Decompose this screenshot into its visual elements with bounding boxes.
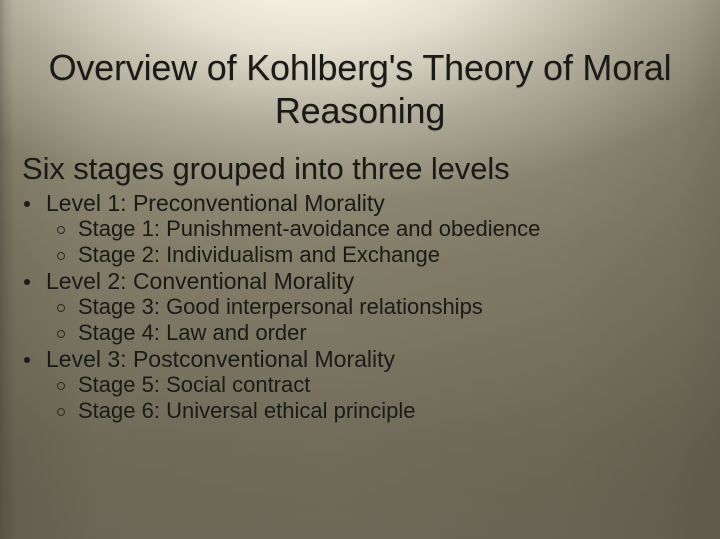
slide-subtitle: Six stages grouped into three levels bbox=[22, 150, 510, 187]
stage-row: Stage 1: Punishment-avoidance and obedie… bbox=[0, 216, 720, 242]
hollow-circle-bullet-icon bbox=[57, 330, 65, 338]
stage-list: Stage 5: Social contract Stage 6: Univer… bbox=[0, 372, 720, 424]
stage-row: Stage 5: Social contract bbox=[0, 372, 720, 398]
stage-label: Stage 5: Social contract bbox=[78, 372, 310, 397]
stage-row: Stage 3: Good interpersonal relationship… bbox=[0, 294, 720, 320]
level-label: Level 3: Postconventional Morality bbox=[46, 346, 395, 372]
stage-list: Stage 3: Good interpersonal relationship… bbox=[0, 294, 720, 346]
filled-disc-bullet-icon bbox=[24, 201, 30, 207]
slide-title: Overview of Kohlberg's Theory of Moral R… bbox=[10, 46, 710, 132]
level-group: Level 1: Preconventional Morality Stage … bbox=[0, 190, 720, 268]
stage-label: Stage 1: Punishment-avoidance and obedie… bbox=[78, 216, 540, 241]
stage-label: Stage 4: Law and order bbox=[78, 320, 307, 345]
hollow-circle-bullet-icon bbox=[57, 252, 65, 260]
stage-label: Stage 2: Individualism and Exchange bbox=[78, 242, 440, 267]
level-label: Level 2: Conventional Morality bbox=[46, 268, 354, 294]
stage-row: Stage 4: Law and order bbox=[0, 320, 720, 346]
stage-label: Stage 3: Good interpersonal relationship… bbox=[78, 294, 483, 319]
stage-list: Stage 1: Punishment-avoidance and obedie… bbox=[0, 216, 720, 268]
hollow-circle-bullet-icon bbox=[57, 304, 65, 312]
level-group: Level 3: Postconventional Morality Stage… bbox=[0, 346, 720, 424]
level-group: Level 2: Conventional Morality Stage 3: … bbox=[0, 268, 720, 346]
outline-list: Level 1: Preconventional Morality Stage … bbox=[0, 190, 720, 424]
level-row: Level 1: Preconventional Morality bbox=[0, 190, 720, 216]
hollow-circle-bullet-icon bbox=[57, 382, 65, 390]
filled-disc-bullet-icon bbox=[24, 279, 30, 285]
hollow-circle-bullet-icon bbox=[57, 226, 65, 234]
presentation-slide: Overview of Kohlberg's Theory of Moral R… bbox=[0, 0, 720, 539]
hollow-circle-bullet-icon bbox=[57, 408, 65, 416]
level-label: Level 1: Preconventional Morality bbox=[46, 190, 385, 216]
level-row: Level 3: Postconventional Morality bbox=[0, 346, 720, 372]
stage-row: Stage 6: Universal ethical principle bbox=[0, 398, 720, 424]
slide-content: Overview of Kohlberg's Theory of Moral R… bbox=[0, 0, 720, 539]
level-row: Level 2: Conventional Morality bbox=[0, 268, 720, 294]
stage-row: Stage 2: Individualism and Exchange bbox=[0, 242, 720, 268]
filled-disc-bullet-icon bbox=[24, 357, 30, 363]
stage-label: Stage 6: Universal ethical principle bbox=[78, 398, 416, 423]
